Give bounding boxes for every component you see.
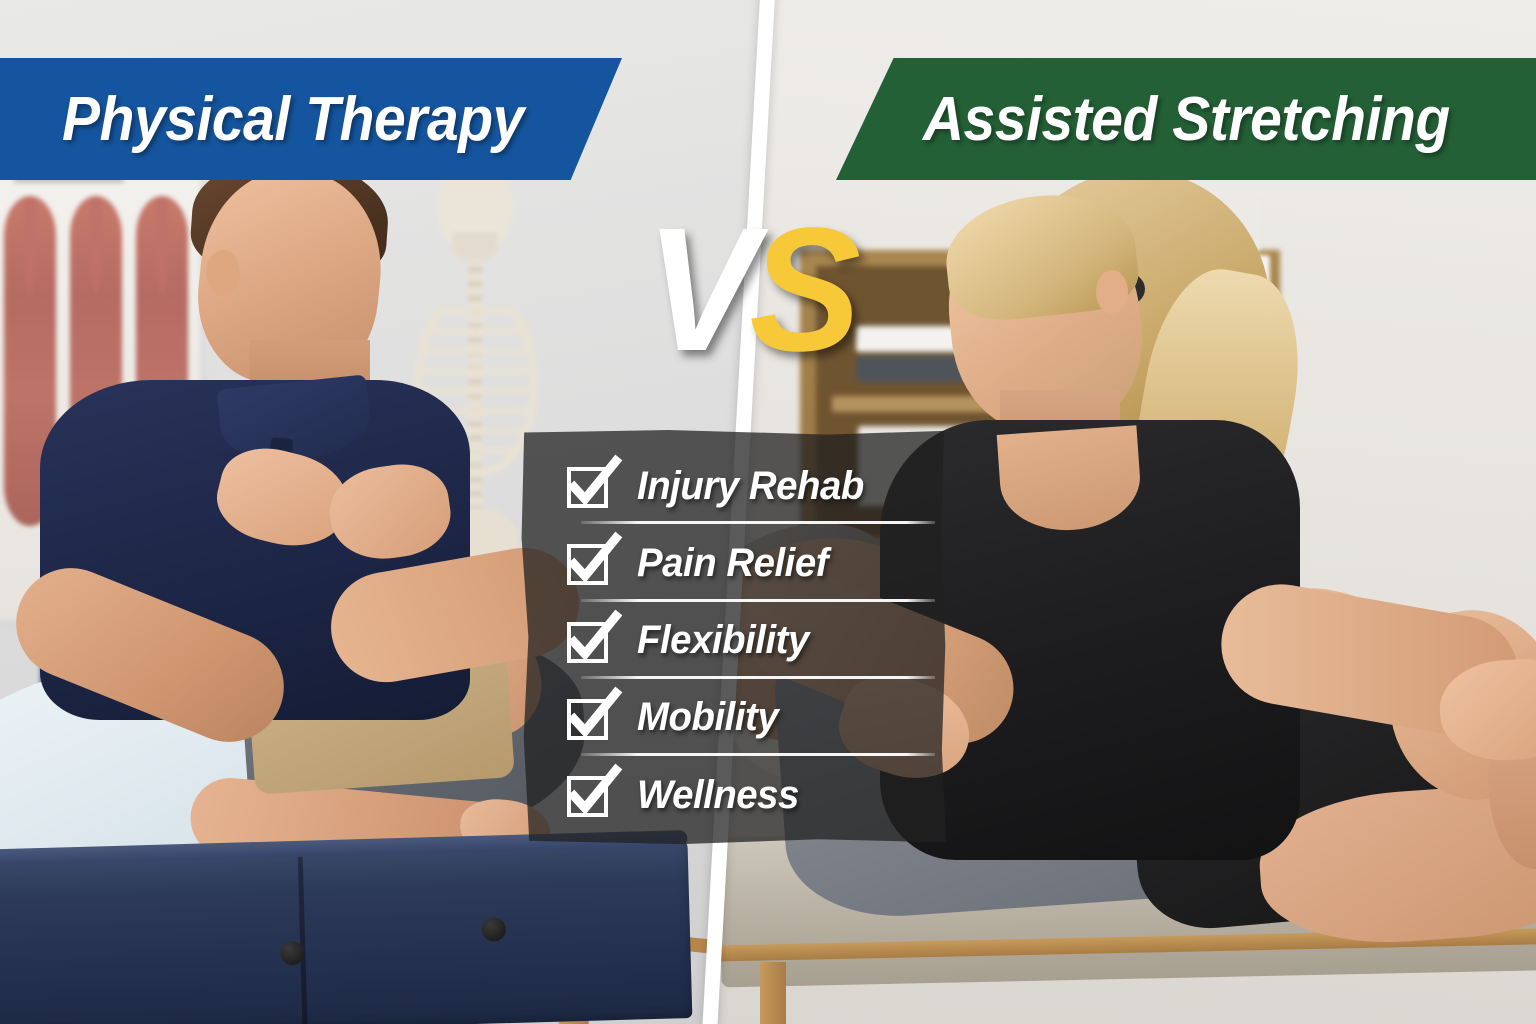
practitioner-ear [1096, 270, 1128, 314]
checked-checkbox-icon [569, 698, 615, 738]
checked-checkbox-icon [569, 466, 615, 506]
checked-checkbox-icon [569, 621, 615, 661]
checklist-item: Wellness [569, 765, 929, 825]
banner-left-title: Physical Therapy [62, 84, 524, 155]
comparison-graphic: Physical Therapy Assisted Stretching VS … [0, 0, 1536, 1024]
checklist-item: Mobility [569, 688, 929, 748]
checklist-item-label: Injury Rehab [637, 464, 864, 509]
table-leg [760, 962, 786, 1024]
checklist-item: Pain Relief [569, 533, 929, 593]
checklist-item-label: Mobility [637, 695, 778, 740]
checked-checkbox-icon [569, 543, 615, 583]
checked-checkbox-icon [569, 775, 615, 815]
versus-letter-v: V [645, 192, 749, 388]
banner-physical-therapy: Physical Therapy [0, 58, 622, 180]
banner-right-title: Assisted Stretching [923, 84, 1450, 155]
skeleton-jaw [452, 232, 498, 260]
benefits-checklist: Injury Rehab Pain Relief [519, 430, 947, 845]
checklist-item: Flexibility [569, 611, 929, 671]
benefits-panel: Injury Rehab Pain Relief [519, 430, 947, 845]
versus-badge: VS [645, 202, 853, 378]
checklist-item: Injury Rehab [569, 456, 929, 516]
checklist-item-label: Pain Relief [637, 541, 828, 586]
table-seam [298, 857, 308, 1024]
banner-assisted-stretching: Assisted Stretching [836, 58, 1536, 180]
therapist-ear [206, 250, 240, 296]
table-knob [481, 917, 506, 942]
versus-letter-s: S [749, 192, 853, 388]
checklist-item-label: Flexibility [637, 618, 809, 663]
treatment-table [0, 838, 692, 1024]
checklist-item-label: Wellness [637, 773, 799, 818]
